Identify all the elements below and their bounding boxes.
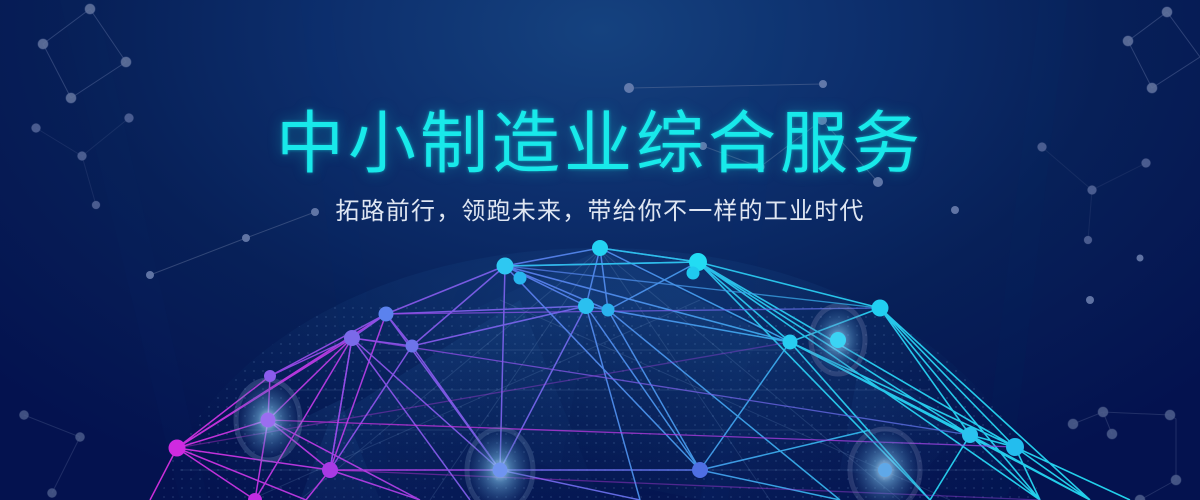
banner-text-layer: 中小制造业综合服务 拓路前行，领跑未来，带给你不一样的工业时代 (0, 0, 1200, 500)
page-subtitle: 拓路前行，领跑未来，带给你不一样的工业时代 (0, 196, 1200, 228)
hero-banner: 中小制造业综合服务 拓路前行，领跑未来，带给你不一样的工业时代 (0, 0, 1200, 500)
page-title: 中小制造业综合服务 (0, 106, 1200, 182)
